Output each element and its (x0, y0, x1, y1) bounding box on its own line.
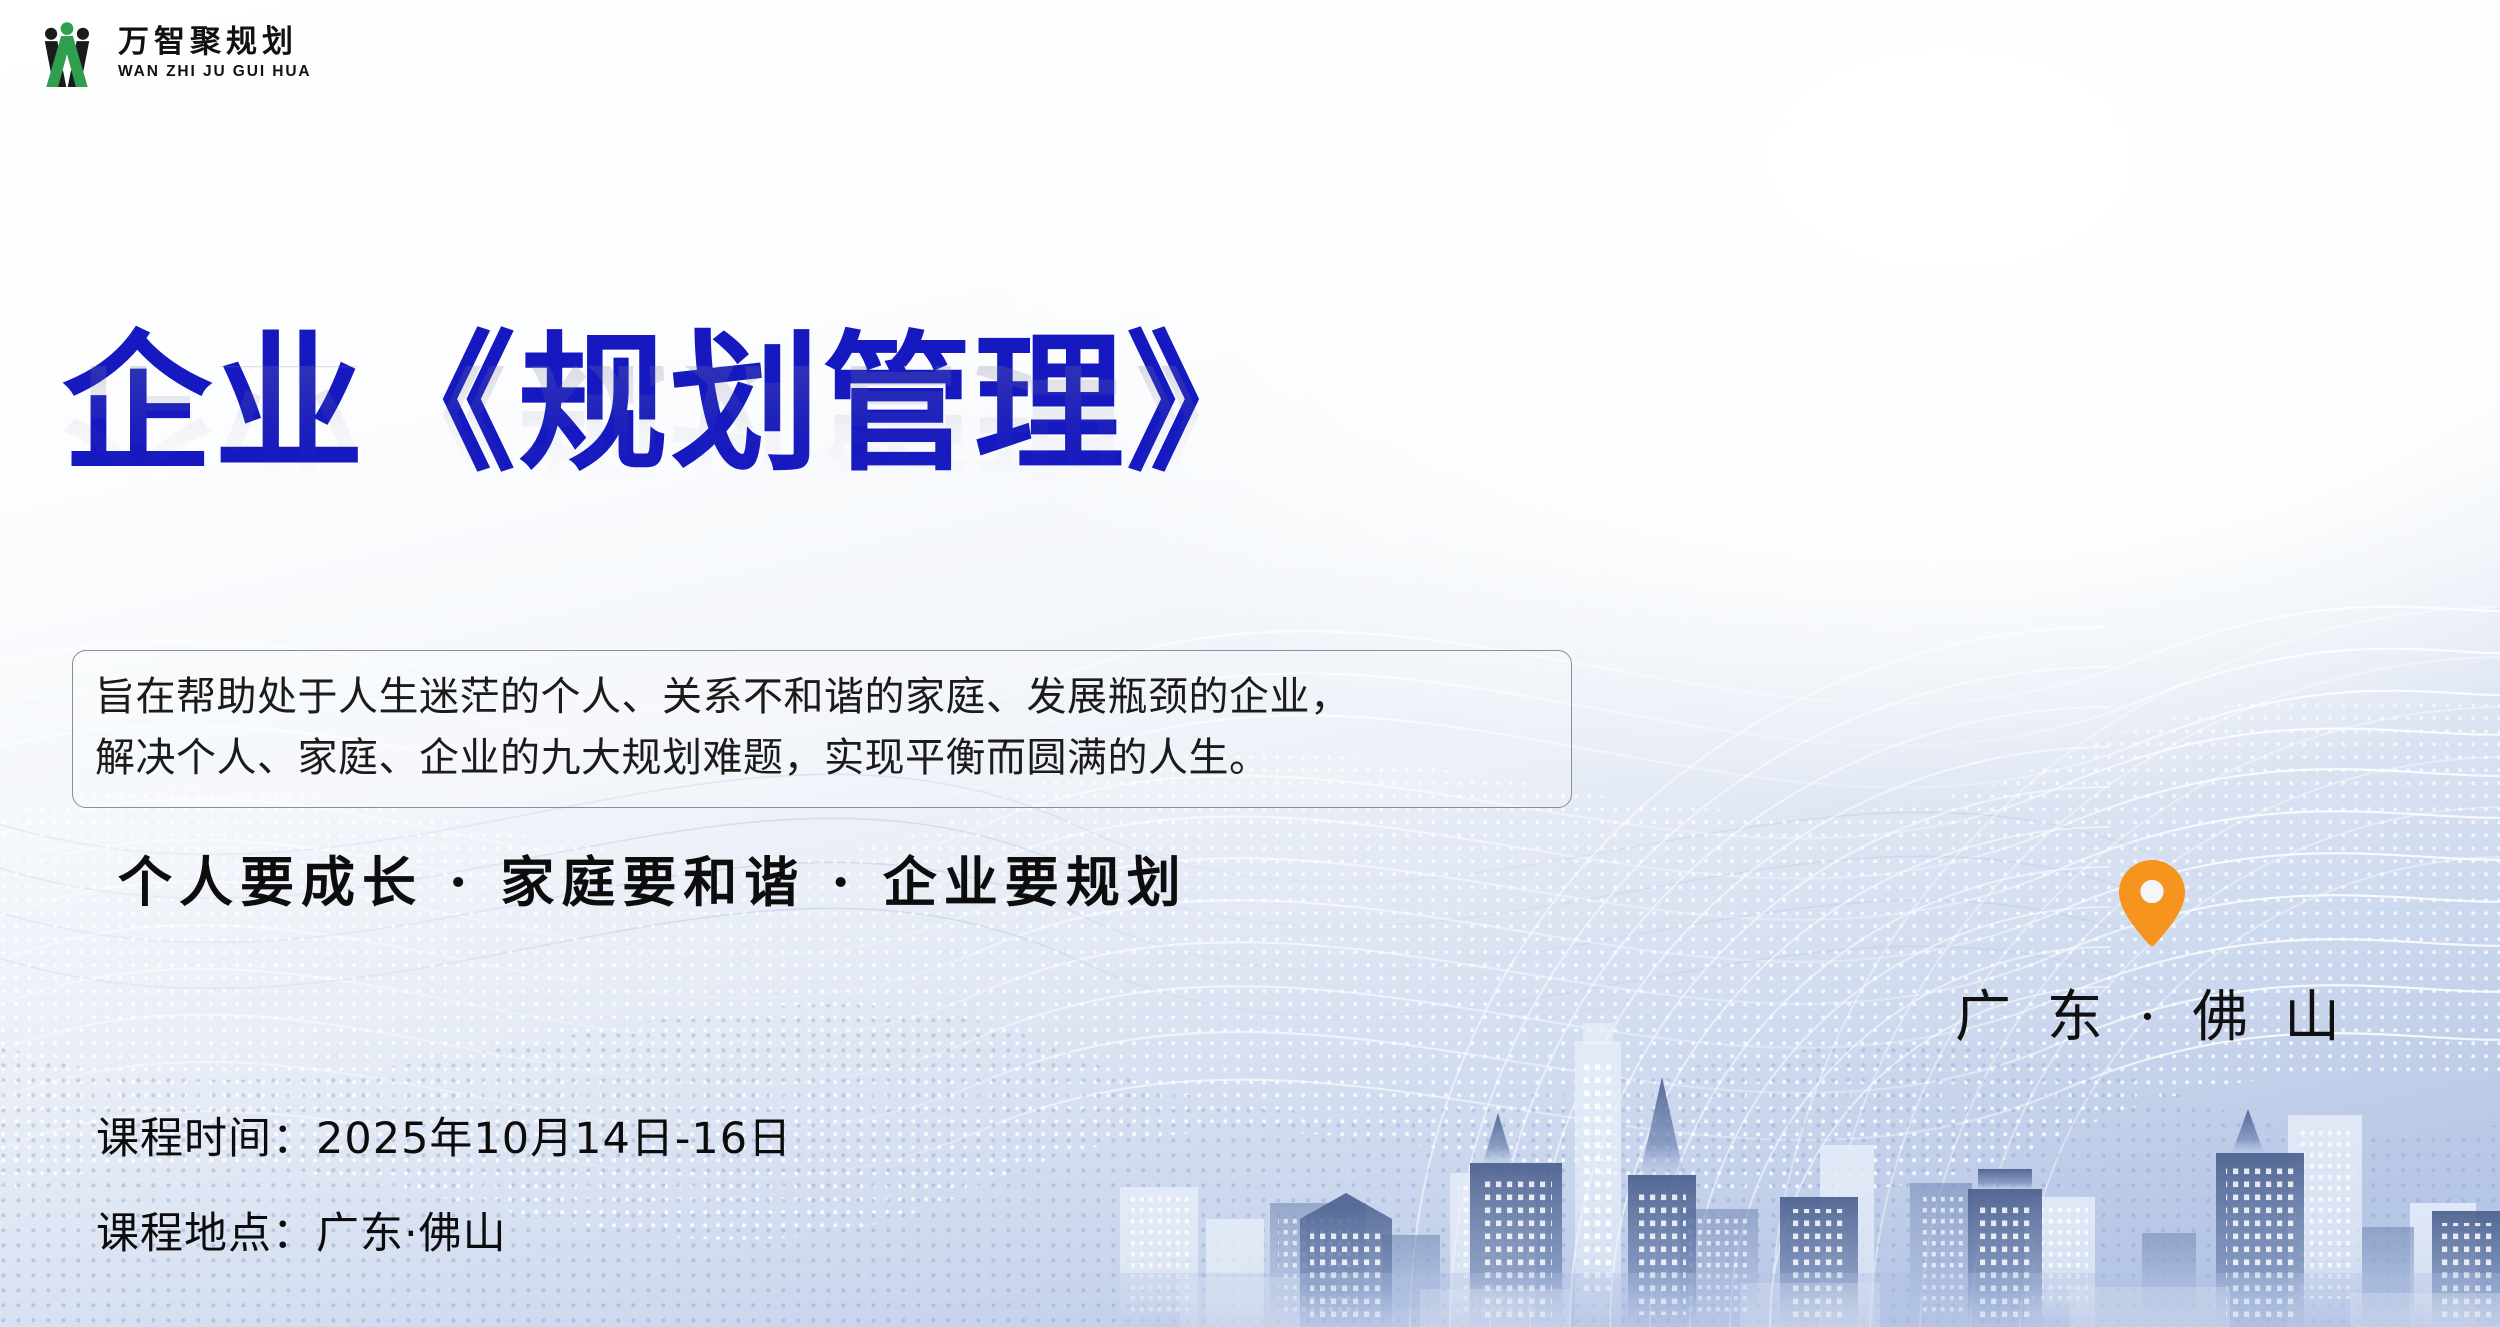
promotional-banner: 万智聚规划 WAN ZHI JU GUI HUA 企业《规划管理》 企业《规划管… (0, 0, 2500, 1327)
page-title-reflection: 企业《规划管理》 (62, 366, 1622, 484)
location-marker: 广 东 · 佛 山 (1942, 860, 2362, 1053)
description-box: 旨在帮助处于人生迷茫的个人、关系不和谐的家庭、发展瓶颈的企业， 解决个人、家庭、… (72, 650, 1572, 808)
brand-name-cn: 万智聚规划 (118, 25, 312, 61)
map-pin-icon (2119, 860, 2185, 946)
course-place: 课程地点：广东·佛山 (96, 1213, 792, 1256)
three-people-mark-icon (30, 16, 104, 90)
hero-title-block: 企业《规划管理》 企业《规划管理》 (62, 330, 1622, 602)
location-label: 广 东 · 佛 山 (1942, 972, 2362, 1053)
slogan-text: 个人要成长 · 家庭要和谐 · 企业要规划 (118, 838, 1188, 917)
description-line-2: 解决个人、家庭、企业的九大规划难题，实现平衡而圆满的人生。 (95, 728, 1549, 789)
course-time: 课程时间：2025年10月14日-16日 (96, 1118, 792, 1161)
course-info-block: 课程时间：2025年10月14日-16日 课程地点：广东·佛山 (96, 1118, 792, 1308)
description-line-1: 旨在帮助处于人生迷茫的个人、关系不和谐的家庭、发展瓶颈的企业， (95, 667, 1549, 728)
brand-name-en: WAN ZHI JU GUI HUA (118, 63, 312, 82)
brand-logo: 万智聚规划 WAN ZHI JU GUI HUA (30, 16, 312, 90)
